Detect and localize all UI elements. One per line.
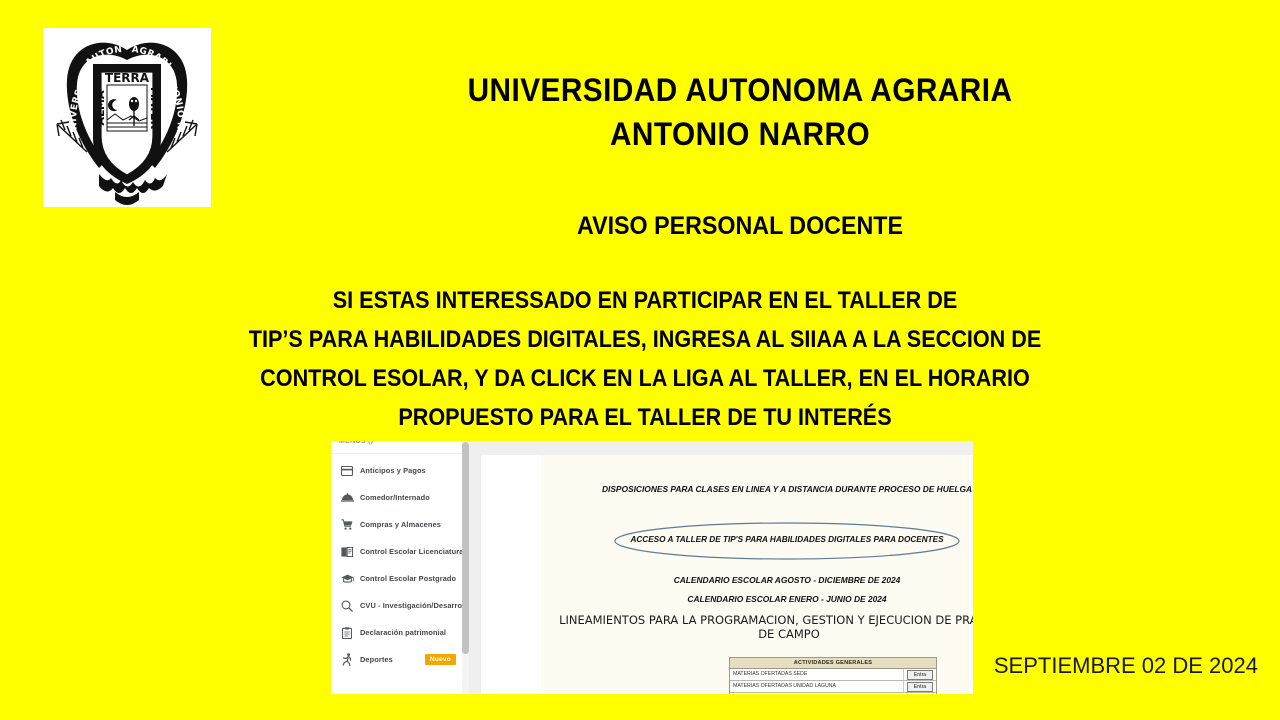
sidebar-item-label: Control Escolar Licenciatura xyxy=(360,547,463,556)
search-icon xyxy=(338,600,356,612)
siiaa-document-page: DISPOSICIONES PARA CLASES EN LINEA Y A D… xyxy=(541,455,973,694)
actividades-generales-table: ACTIVIDADES GENERALES MATERIAS OFERTADAS… xyxy=(729,657,937,694)
announcement-line-3: CONTROL ESOLAR, Y DA CLICK EN LA LIGA AL… xyxy=(173,359,1118,398)
sidebar-item-control-escolar-licenciatura[interactable]: Control Escolar Licenciatura xyxy=(331,538,468,565)
book-icon xyxy=(338,547,356,557)
entra-button[interactable]: Entra xyxy=(907,682,933,692)
sidebar-section-label: MENUS () xyxy=(339,441,373,448)
svg-text:MATER: MATER xyxy=(148,87,161,130)
sidebar-item-control-escolar-postgrado[interactable]: Control Escolar Postgrado xyxy=(331,565,468,592)
table-row: MATERIAS OFERTADAS UNIDAD LAGUNA Entra xyxy=(730,681,936,693)
sidebar-item-label: Comedor/Internado xyxy=(360,493,430,502)
graduation-cap-icon xyxy=(338,574,356,584)
siiaa-content-panel: DISPOSICIONES PARA CLASES EN LINEA Y A D… xyxy=(469,441,973,694)
sidebar-item-label: Compras y Almacenes xyxy=(360,520,441,529)
svg-text:TERRA: TERRA xyxy=(105,71,150,85)
sidebar-scrollbar-thumb[interactable] xyxy=(462,442,469,654)
sidebar-divider xyxy=(331,453,468,454)
document-heading-4[interactable]: LINEAMIENTOS PARA LA PROGRAMACION, GESTI… xyxy=(559,613,973,641)
announcement-body: SI ESTAS INTERESSADO EN PARTICIPAR EN EL… xyxy=(120,281,1170,437)
sidebar-item-label: Declaración patrimonial xyxy=(360,628,446,637)
shopping-cart-icon xyxy=(338,519,356,530)
announcement-line-2: TIP’S PARA HABILIDADES DIGITALES, INGRES… xyxy=(173,320,1118,359)
document-heading-1: DISPOSICIONES PARA CLASES EN LINEA Y A D… xyxy=(541,484,973,496)
runner-icon xyxy=(338,653,356,666)
page-title-line-2: ANTONIO NARRO xyxy=(256,112,1223,156)
entra-button[interactable]: Entra xyxy=(907,670,933,680)
sidebar-item-label: CVU - Investigación/Desarrollo xyxy=(360,601,471,610)
siiaa-document-viewport: DISPOSICIONES PARA CLASES EN LINEA Y A D… xyxy=(481,455,973,694)
announcement-line-4: PROPUESTO PARA EL TALLER DE TU INTERÉS xyxy=(173,398,1118,437)
table-row xyxy=(730,693,936,694)
credit-card-icon xyxy=(338,466,356,476)
table-row-action[interactable]: Entra xyxy=(904,670,936,680)
table-cell-label: MATERIAS OFERTADAS UNIDAD LAGUNA xyxy=(730,681,904,692)
sidebar-item-label: Anticipos y Pagos xyxy=(360,466,426,475)
sidebar-item-comedor-internado[interactable]: Comedor/Internado xyxy=(331,484,468,511)
coat-of-arms-graphic: UNIVERSIDAD AUTONOMA AGRARIA ANTONIO NAR… xyxy=(43,28,211,207)
sidebar-item-compras-y-almacenes[interactable]: Compras y Almacenes xyxy=(331,511,468,538)
page-subtitle: AVISO PERSONAL DOCENTE xyxy=(256,210,1223,242)
sidebar-item-anticipos-y-pagos[interactable]: Anticipos y Pagos xyxy=(331,457,468,484)
clipboard-icon xyxy=(338,627,356,639)
document-heading-3[interactable]: CALENDARIO ESCOLAR ENERO - JUNIO DE 2024 xyxy=(541,594,973,606)
university-logo: UNIVERSIDAD AUTONOMA AGRARIA ANTONIO NAR… xyxy=(43,28,211,207)
embedded-siiaa-screenshot: MENUS () Anticipos y Pagos Comedor/Inter… xyxy=(331,441,973,694)
page-title-line-1: UNIVERSIDAD AUTONOMA AGRARIA xyxy=(256,68,1223,112)
highlight-ellipse-group: ACCESO A TALLER DE TIP'S PARA HABILIDADE… xyxy=(613,521,961,561)
announcement-date: SEPTIEMBRE 02 DE 2024 xyxy=(994,653,1258,679)
table-row-action[interactable]: Entra xyxy=(904,682,936,692)
sidebar-item-label: Control Escolar Postgrado xyxy=(360,574,456,583)
sidebar-item-deportes[interactable]: Deportes Nuevo xyxy=(331,646,468,673)
sidebar-item-declaracion-patrimonial[interactable]: Declaración patrimonial xyxy=(331,619,468,646)
table-header: ACTIVIDADES GENERALES xyxy=(730,658,936,669)
header-block: UNIVERSIDAD AUTONOMA AGRARIA ANTONIO NAR… xyxy=(220,68,1260,242)
table-row: MATERIAS OFERTADAS SEDE Entra xyxy=(730,669,936,681)
food-dome-icon xyxy=(338,493,356,502)
announcement-line-1: SI ESTAS INTERESSADO EN PARTICIPAR EN EL… xyxy=(173,281,1118,320)
sidebar-item-cvu-investigacion-desarrollo[interactable]: CVU - Investigación/Desarrollo xyxy=(331,592,468,619)
sidebar-item-badge: Nuevo xyxy=(425,654,456,665)
svg-text:ALMA: ALMA xyxy=(94,90,107,125)
document-highlighted-link[interactable]: ACCESO A TALLER DE TIP'S PARA HABILIDADE… xyxy=(613,535,961,544)
sidebar-item-label: Deportes xyxy=(360,655,393,664)
table-cell-label: MATERIAS OFERTADAS SEDE xyxy=(730,669,904,680)
document-heading-2[interactable]: CALENDARIO ESCOLAR AGOSTO - DICIEMBRE DE… xyxy=(541,575,973,587)
siiaa-sidebar: MENUS () Anticipos y Pagos Comedor/Inter… xyxy=(331,441,469,694)
